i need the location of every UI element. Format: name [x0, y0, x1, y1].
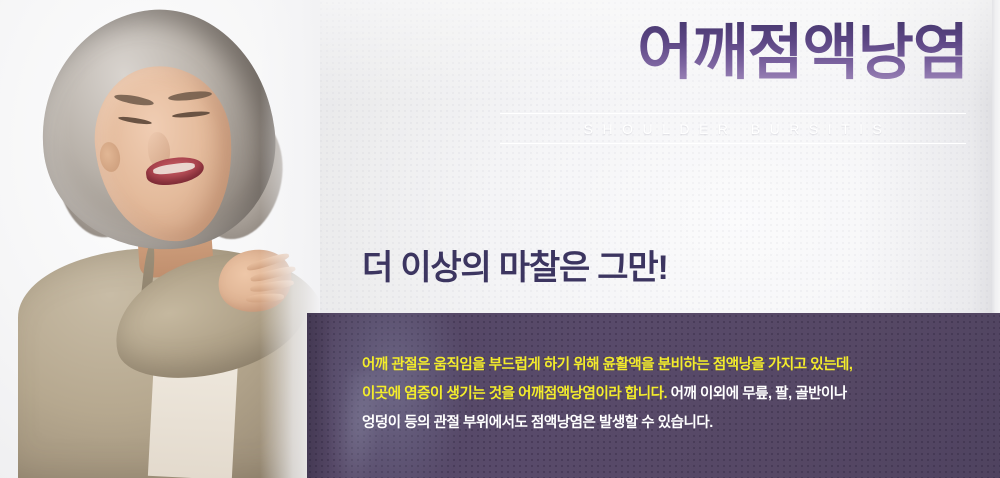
title-block: 어깨점액낭염	[500, 22, 968, 83]
description-line: 어깨 관절은 움직임을 부드럽게 하기 위해 윤활액을 분비하는 점액낭을 가지…	[362, 352, 962, 378]
description-plain: 엉덩이 등의 관절 부위에서도 점액낭염은 발생할 수 있습니다.	[362, 415, 713, 431]
shoulder-bursitis-banner: 어깨점액낭염 SHOULDER BURSITIS 더 이상의 마찰은 그만! 어…	[0, 0, 1000, 478]
description-highlight: 이곳에 염증이 생기는 것을 어깨점액낭염이라 합니다.	[362, 386, 667, 402]
subtitle-rule-block: SHOULDER BURSITIS	[500, 113, 966, 144]
patient-photo	[0, 0, 320, 478]
description-panel: 어깨 관절은 움직임을 부드럽게 하기 위해 윤활액을 분비하는 점액낭을 가지…	[307, 313, 1000, 478]
right-edge-strip	[992, 0, 1000, 313]
description-line: 이곳에 염증이 생기는 것을 어깨점액낭염이라 합니다. 어깨 이외에 무릎, …	[362, 381, 962, 407]
page-title: 어깨점액낭염	[500, 22, 968, 83]
subtitle-english: SHOULDER BURSITIS	[500, 119, 966, 139]
description-line: 엉덩이 등의 관절 부위에서도 점액낭염은 발생할 수 있습니다.	[362, 410, 962, 436]
description-highlight: 어깨 관절은 움직임을 부드럽게 하기 위해 윤활액을 분비하는 점액낭을 가지…	[362, 357, 853, 373]
panel-left-shadow	[307, 313, 333, 478]
headline: 더 이상의 마찰은 그만!	[362, 240, 668, 289]
description-plain: 어깨 이외에 무릎, 팔, 골반이나	[667, 386, 847, 402]
description-text: 어깨 관절은 움직임을 부드럽게 하기 위해 윤활액을 분비하는 점액낭을 가지…	[362, 352, 962, 439]
